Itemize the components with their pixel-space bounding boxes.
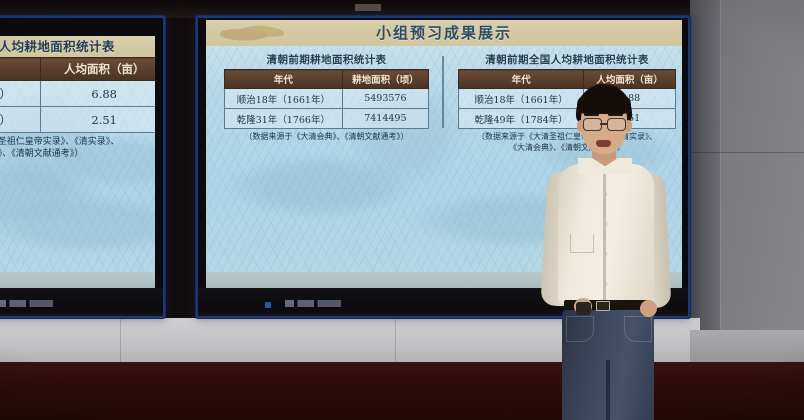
presenter-mouth [596, 140, 611, 147]
eyeglasses-bridge [600, 123, 607, 125]
ledge-seam-1 [120, 318, 121, 364]
secondary-display[interactable]: 清朝前期全国人均耕地面积统计表 年代 人均面积（亩） 顺治18年（1661年） … [0, 16, 165, 318]
presenter-hand-right [640, 300, 657, 317]
trouser-pocket-right [624, 316, 652, 342]
table-caption: 清朝前期耕地面积统计表 [224, 52, 429, 67]
cell-value: 6.88 [41, 81, 155, 107]
trouser-pocket-left [566, 316, 594, 342]
shirt-button [603, 192, 607, 196]
cell-area: 5493576 [342, 89, 428, 109]
source-line-2: 《大清会典》、《清朝文献通考》） [0, 148, 155, 160]
secondary-slide: 清朝前期全国人均耕地面积统计表 年代 人均面积（亩） 顺治18年（1661年） … [0, 36, 155, 288]
wall-seam-vertical [720, 0, 721, 362]
eyeglasses-lens-right [607, 118, 626, 131]
secondary-table-source: （数据来源于《大清圣祖仁皇帝实录》、《清实录》、 《大清会典》、《清朝文献通考》… [0, 136, 155, 160]
table-row: 乾隆31年（1766年） 7414495 [225, 109, 429, 129]
wall-pillar [690, 0, 720, 362]
table-source: （数据来源于《大清会典》、《清朝文献通考》） [224, 132, 429, 143]
cell-year: 乾隆31年（1766年） [225, 109, 343, 129]
wall-seam-horizontal [690, 152, 804, 153]
presenter [520, 84, 685, 420]
secondary-display-bezel [0, 288, 165, 318]
shirt-button [603, 252, 607, 256]
secondary-table-caption: 清朝前期全国人均耕地面积统计表 [0, 36, 155, 55]
cell-year: 顺治18年（1661年） [225, 89, 343, 109]
source-line-1: （数据来源于《大清圣祖仁皇帝实录》、《清实录》、 [0, 136, 155, 148]
presenter-ear-right [625, 120, 632, 132]
room-wall-right [690, 0, 804, 362]
cell-area: 7414495 [342, 109, 428, 129]
col-header-year: 年代 [0, 58, 41, 81]
table-block-farmland: 清朝前期耕地面积统计表 年代 耕地面积（顷） 顺治18年（1661年） 5493… [224, 52, 429, 143]
presenter-hair-fringe [577, 92, 631, 114]
belt-buckle [596, 301, 610, 311]
slide-column-divider [442, 56, 444, 128]
col-header-area: 耕地面积（顷） [342, 70, 428, 89]
slide-bottom-band [0, 272, 155, 288]
farmland-area-table: 年代 耕地面积（顷） 顺治18年（1661年） 5493576 乾隆31年（17… [224, 69, 429, 129]
table-header-row: 年代 耕地面积（顷） [225, 70, 429, 89]
secondary-table: 年代 人均面积（亩） 顺治18年（1661年） 6.88 乾隆49年（1784年… [0, 57, 155, 133]
remote-clicker[interactable] [576, 302, 591, 315]
display-ledge-right [690, 330, 804, 364]
secondary-slide-content: 清朝前期全国人均耕地面积统计表 年代 人均面积（亩） 顺治18年（1661年） … [0, 36, 155, 160]
col-header-year: 年代 [225, 70, 343, 89]
cell-year: 顺治18年（1661年） [0, 81, 41, 107]
secondary-display-screen[interactable]: 清朝前期全国人均耕地面积统计表 年代 人均面积（亩） 顺治18年（1661年） … [0, 36, 155, 288]
shirt-button [603, 222, 607, 226]
shirt-pocket [570, 234, 594, 253]
power-led-icon [265, 302, 271, 308]
trouser-inseam [606, 360, 610, 420]
presenter-eyebrow-right [608, 113, 623, 116]
display-brand-logo [285, 300, 341, 307]
cell-year: 乾隆49年（1784年） [0, 107, 41, 133]
table-row: 顺治18年（1661年） 5493576 [225, 89, 429, 109]
cell-value: 2.51 [41, 107, 155, 133]
ledge-seam-2 [395, 318, 396, 364]
presenter-eyebrow-left [584, 113, 599, 116]
col-header-value: 人均面积（亩） [41, 58, 155, 81]
table-row: 顺治18年（1661年） 6.88 [0, 81, 155, 107]
table-header-row: 年代 人均面积（亩） [0, 58, 155, 81]
table-row: 乾隆49年（1784年） 2.51 [0, 107, 155, 133]
screenshot-stage: 清朝前期全国人均耕地面积统计表 年代 人均面积（亩） 顺治18年（1661年） … [0, 0, 804, 420]
display-brand-logo [0, 300, 53, 307]
slide-title: 小组预习成果展示 [206, 22, 682, 43]
table-caption: 清朝前期全国人均耕地面积统计表 [458, 52, 676, 67]
shirt-button [603, 282, 607, 286]
ceiling-highlight [355, 4, 381, 11]
